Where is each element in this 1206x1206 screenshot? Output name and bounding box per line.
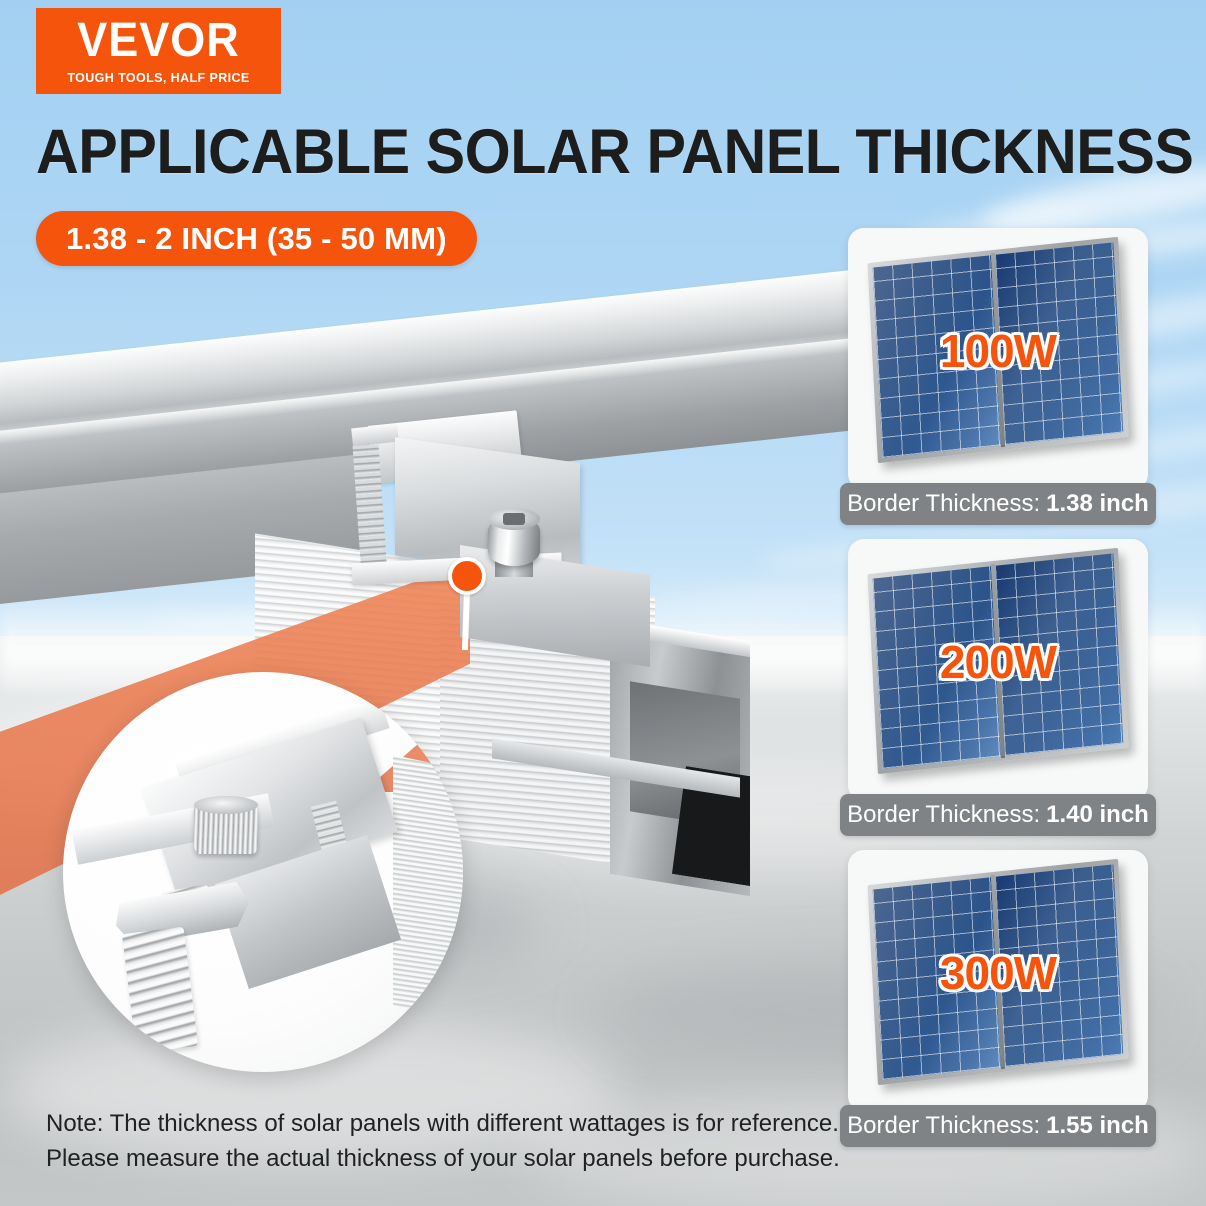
magnifier-knurled-nut-top	[194, 796, 258, 814]
panel-caption-bar: Border Thickness: 1.40 inch	[840, 794, 1156, 836]
magnifier-panel-rib	[393, 755, 463, 1023]
wattage-label: 100W	[872, 324, 1124, 378]
infographic-stage: VEVOR TOUGH TOOLS, HALF PRICE APPLICABLE…	[0, 0, 1206, 1206]
panel-card: 300W	[848, 850, 1148, 1112]
wattage-label: 300W	[872, 946, 1124, 1000]
thickness-range-label: 1.38 - 2 INCH (35 - 50 MM)	[66, 221, 447, 257]
note-line-2: Please measure the actual thickness of y…	[46, 1142, 806, 1177]
solar-panel-graphic: 100W	[872, 250, 1124, 468]
product-illustration	[0, 330, 830, 1090]
brand-tagline: TOUGH TOOLS, HALF PRICE	[67, 71, 249, 85]
caption-label: Border Thickness:	[847, 1112, 1040, 1140]
note-line-1: Note: The thickness of solar panels with…	[46, 1107, 806, 1142]
caption-value: 1.40 inch	[1046, 801, 1149, 829]
caption-value: 1.55 inch	[1046, 1112, 1149, 1140]
wattage-label: 200W	[872, 635, 1124, 689]
solar-panel-graphic: 200W	[872, 561, 1124, 779]
solar-panel-graphic: 300W	[872, 872, 1124, 1090]
thickness-range-badge: 1.38 - 2 INCH (35 - 50 MM)	[36, 211, 477, 266]
magnifier-inset	[63, 672, 463, 1072]
brand-name: VEVOR	[77, 15, 240, 64]
caption-label: Border Thickness:	[847, 801, 1040, 829]
page-title: APPLICABLE SOLAR PANEL THICKNESS	[36, 121, 1051, 184]
panel-caption-bar: Border Thickness: 1.38 inch	[840, 483, 1156, 525]
caption-label: Border Thickness:	[847, 490, 1040, 518]
disclaimer-note: Note: The thickness of solar panels with…	[46, 1107, 806, 1177]
panel-caption-bar: Border Thickness: 1.55 inch	[840, 1105, 1156, 1147]
focus-marker-dot	[448, 557, 486, 595]
panel-card: 100W	[848, 228, 1148, 490]
caption-value: 1.38 inch	[1046, 490, 1149, 518]
hex-socket-icon	[503, 513, 525, 525]
magnifier-threaded-screw	[122, 927, 198, 1054]
panel-card: 200W	[848, 539, 1148, 801]
vevor-logo: VEVOR TOUGH TOOLS, HALF PRICE	[36, 8, 281, 94]
